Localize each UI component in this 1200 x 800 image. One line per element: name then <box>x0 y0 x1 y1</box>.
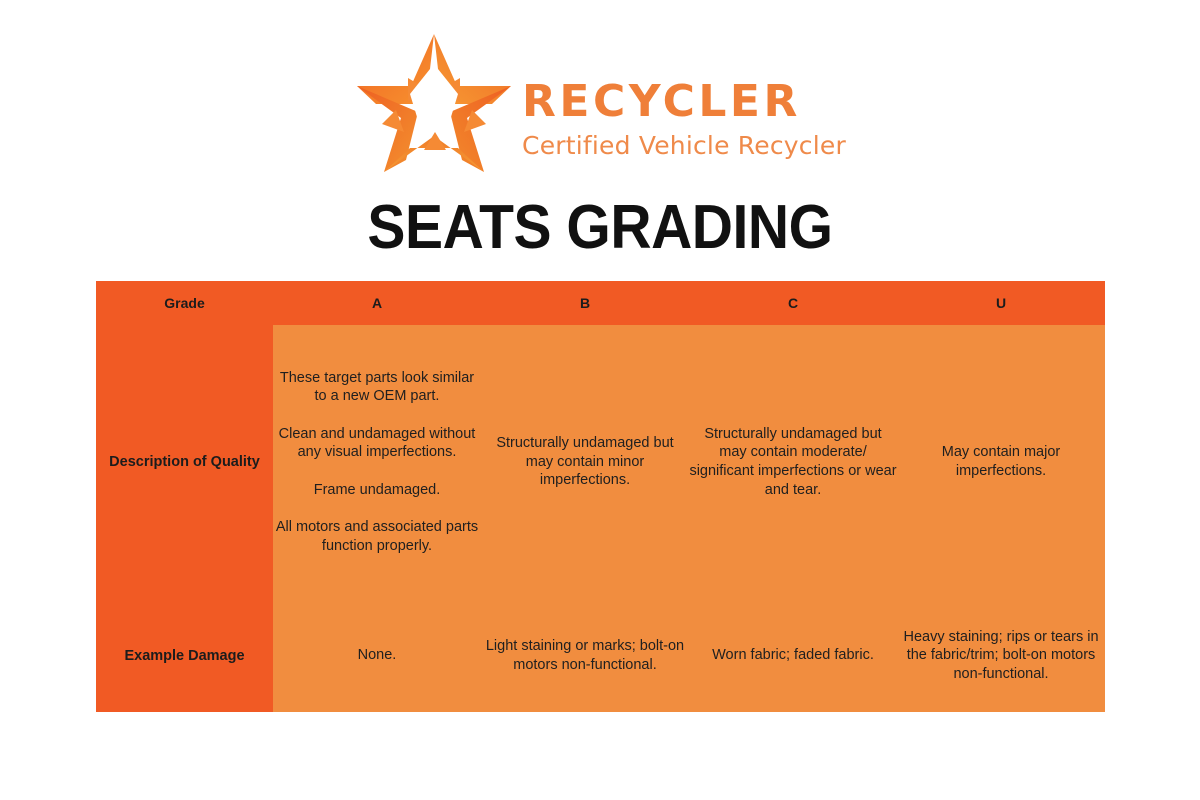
recycling-star-logo-icon <box>354 28 514 178</box>
cell-paragraph: Structurally undamaged but may contain m… <box>689 425 897 499</box>
row-label-description-of-quality: Description of Quality <box>96 325 273 599</box>
table-row: Example Damage None. Light staining or m… <box>96 599 1105 712</box>
cell-paragraph: Light staining or marks; bolt-on motors … <box>481 637 689 674</box>
cell-example-c: Worn fabric; faded fabric. <box>689 599 897 712</box>
cell-paragraph: All motors and associated parts function… <box>273 518 481 555</box>
header-grade-u: U <box>897 281 1105 325</box>
grading-sheet: RECYCLER Certified Vehicle Recycler SEAT… <box>0 0 1200 800</box>
cell-paragraph: None. <box>273 646 481 665</box>
brand-logo: RECYCLER Certified Vehicle Recycler <box>0 28 1200 178</box>
cell-paragraph: Frame undamaged. <box>273 481 481 500</box>
header-grade-c: C <box>689 281 897 325</box>
brand-wordmark: RECYCLER Certified Vehicle Recycler <box>522 44 846 161</box>
header-grade-a: A <box>273 281 481 325</box>
cell-paragraph: May contain major imperfections. <box>897 443 1105 480</box>
table-row: Description of Quality These target part… <box>96 325 1105 599</box>
cell-example-a: None. <box>273 599 481 712</box>
cell-paragraph: These target parts look similar to a new… <box>273 369 481 406</box>
brand-tagline: Certified Vehicle Recycler <box>522 130 846 161</box>
row-label-example-damage: Example Damage <box>96 599 273 712</box>
cell-description-b: Structurally undamaged but may contain m… <box>481 325 689 599</box>
cell-paragraph: Heavy staining; rips or tears in the fab… <box>897 628 1105 684</box>
cell-description-u: May contain major imperfections. <box>897 325 1105 599</box>
page-title: SEATS GRADING <box>48 192 1152 263</box>
header-grade: Grade <box>96 281 273 325</box>
cell-paragraph: Clean and undamaged without any visual i… <box>273 425 481 462</box>
header-grade-b: B <box>481 281 689 325</box>
cell-description-c: Structurally undamaged but may contain m… <box>689 325 897 599</box>
cell-paragraph: Worn fabric; faded fabric. <box>689 646 897 665</box>
table-header-row: Grade A B C U <box>96 281 1105 325</box>
cell-example-u: Heavy staining; rips or tears in the fab… <box>897 599 1105 712</box>
cell-description-a: These target parts look similar to a new… <box>273 325 481 599</box>
cell-paragraph: Structurally undamaged but may contain m… <box>481 434 689 490</box>
grading-table: Grade A B C U Description of Quality The… <box>96 281 1105 712</box>
brand-name: RECYCLER <box>522 80 846 124</box>
cell-example-b: Light staining or marks; bolt-on motors … <box>481 599 689 712</box>
